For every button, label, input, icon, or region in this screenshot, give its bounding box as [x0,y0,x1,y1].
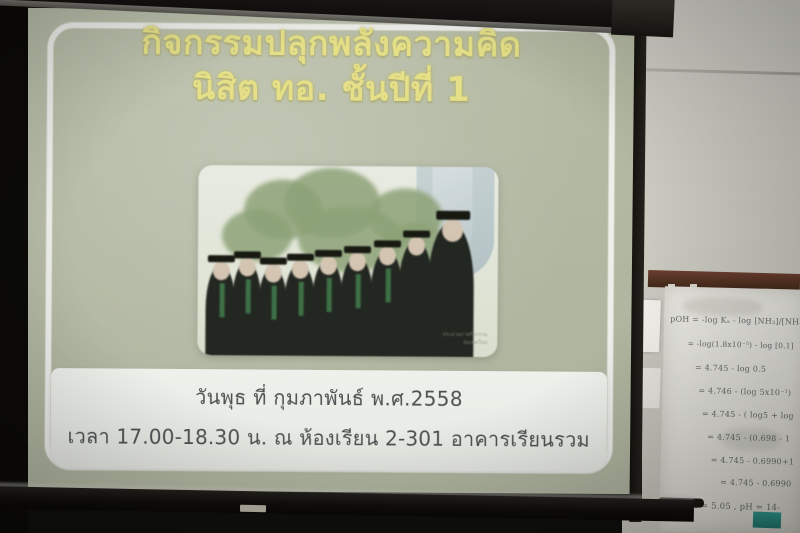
graduate-sash [220,283,225,317]
projector-screen-case-end [611,0,675,37]
screen-pull-tab[interactable] [240,505,266,512]
graduate-head [213,261,230,280]
graduation-cap [403,230,430,237]
graduation-cap [208,255,235,262]
graduation-cap [260,257,287,264]
slide-info-panel: วันพุธ ที่ กุมภาพันธ์ พ.ศ.2558 เวลา 17.0… [50,368,607,472]
whiteboard-smudge [682,297,762,317]
graduate-sash [246,279,251,313]
graduation-cap [287,254,314,261]
classroom-scene: pOH = -log Kₐ - log [NH₃]/[NH₄Cl] = -log… [0,0,800,533]
slide-title-line-1: กิจกรรมปลุกพลังความคิด [47,24,615,65]
graduation-cap [436,211,470,220]
graduation-cap [344,246,371,253]
whiteboard-eraser[interactable] [753,512,782,529]
whiteboard-line: pOH = -log Kₐ - log [NH₃]/[NH₄Cl] [670,314,800,327]
graduate-sash [327,278,332,312]
whiteboard-line: = 4.746 - (log 5x10⁻¹) [698,386,791,397]
slide-title-line-2: นิสิต ทอ. ชั้นปีที่ 1 [47,69,615,110]
graduate-head [349,252,366,271]
graduate-head [320,256,337,275]
graduation-cap [374,240,401,247]
photo-credit: ประมวลภาพกิจกรรม บัณฑิตใหม่ [443,332,488,347]
graduate-sash [356,274,361,308]
graduate-head [265,264,282,283]
slide-date-line: วันพุธ ที่ กุมภาพันธ์ พ.ศ.2558 [51,380,607,416]
graduation-cap [315,250,342,257]
graduation-photo: ประมวลภาพกิจกรรม บัณฑิตใหม่ [197,165,498,357]
graduate-head [292,260,309,279]
graduate-head [379,246,396,265]
whiteboard-line: = 4.745 - (0.698 - 1 [707,432,790,443]
screen-left-edge [0,0,28,533]
whiteboard-line: = 4.745 - 0.6990 [720,478,791,489]
graduate-sash [299,282,304,316]
photo-credit-line-1: ประมวลภาพกิจกรรม [443,332,488,340]
slide-title-block: กิจกรรมปลุกพลังความคิด นิสิต ทอ. ชั้นปีท… [47,24,616,109]
graduation-cap [234,251,261,258]
graduate-head [408,237,425,256]
photo-credit-line-2: บัณฑิตใหม่ [443,339,488,347]
graduate-head [239,257,256,276]
graduate-sash [272,286,277,320]
whiteboard-line: = 4.745 - 0.6990+1 [711,455,795,466]
graduate-sash [386,268,391,302]
graduate-head [442,219,463,242]
whiteboard-line: = 4.745 - ( log5 + log [702,409,794,420]
whiteboard-line: = -log(1.8x10⁻⁵) - log [0.1] [688,339,794,351]
slide-time-location-line: เวลา 17.00-18.30 น. ณ ห้องเรียน 2-301 อา… [51,420,607,456]
presentation-slide: กิจกรรมปลุกพลังความคิด นิสิต ทอ. ชั้นปีท… [44,16,621,482]
whiteboard-line: = 4.745 - log 0.5 [695,363,766,374]
